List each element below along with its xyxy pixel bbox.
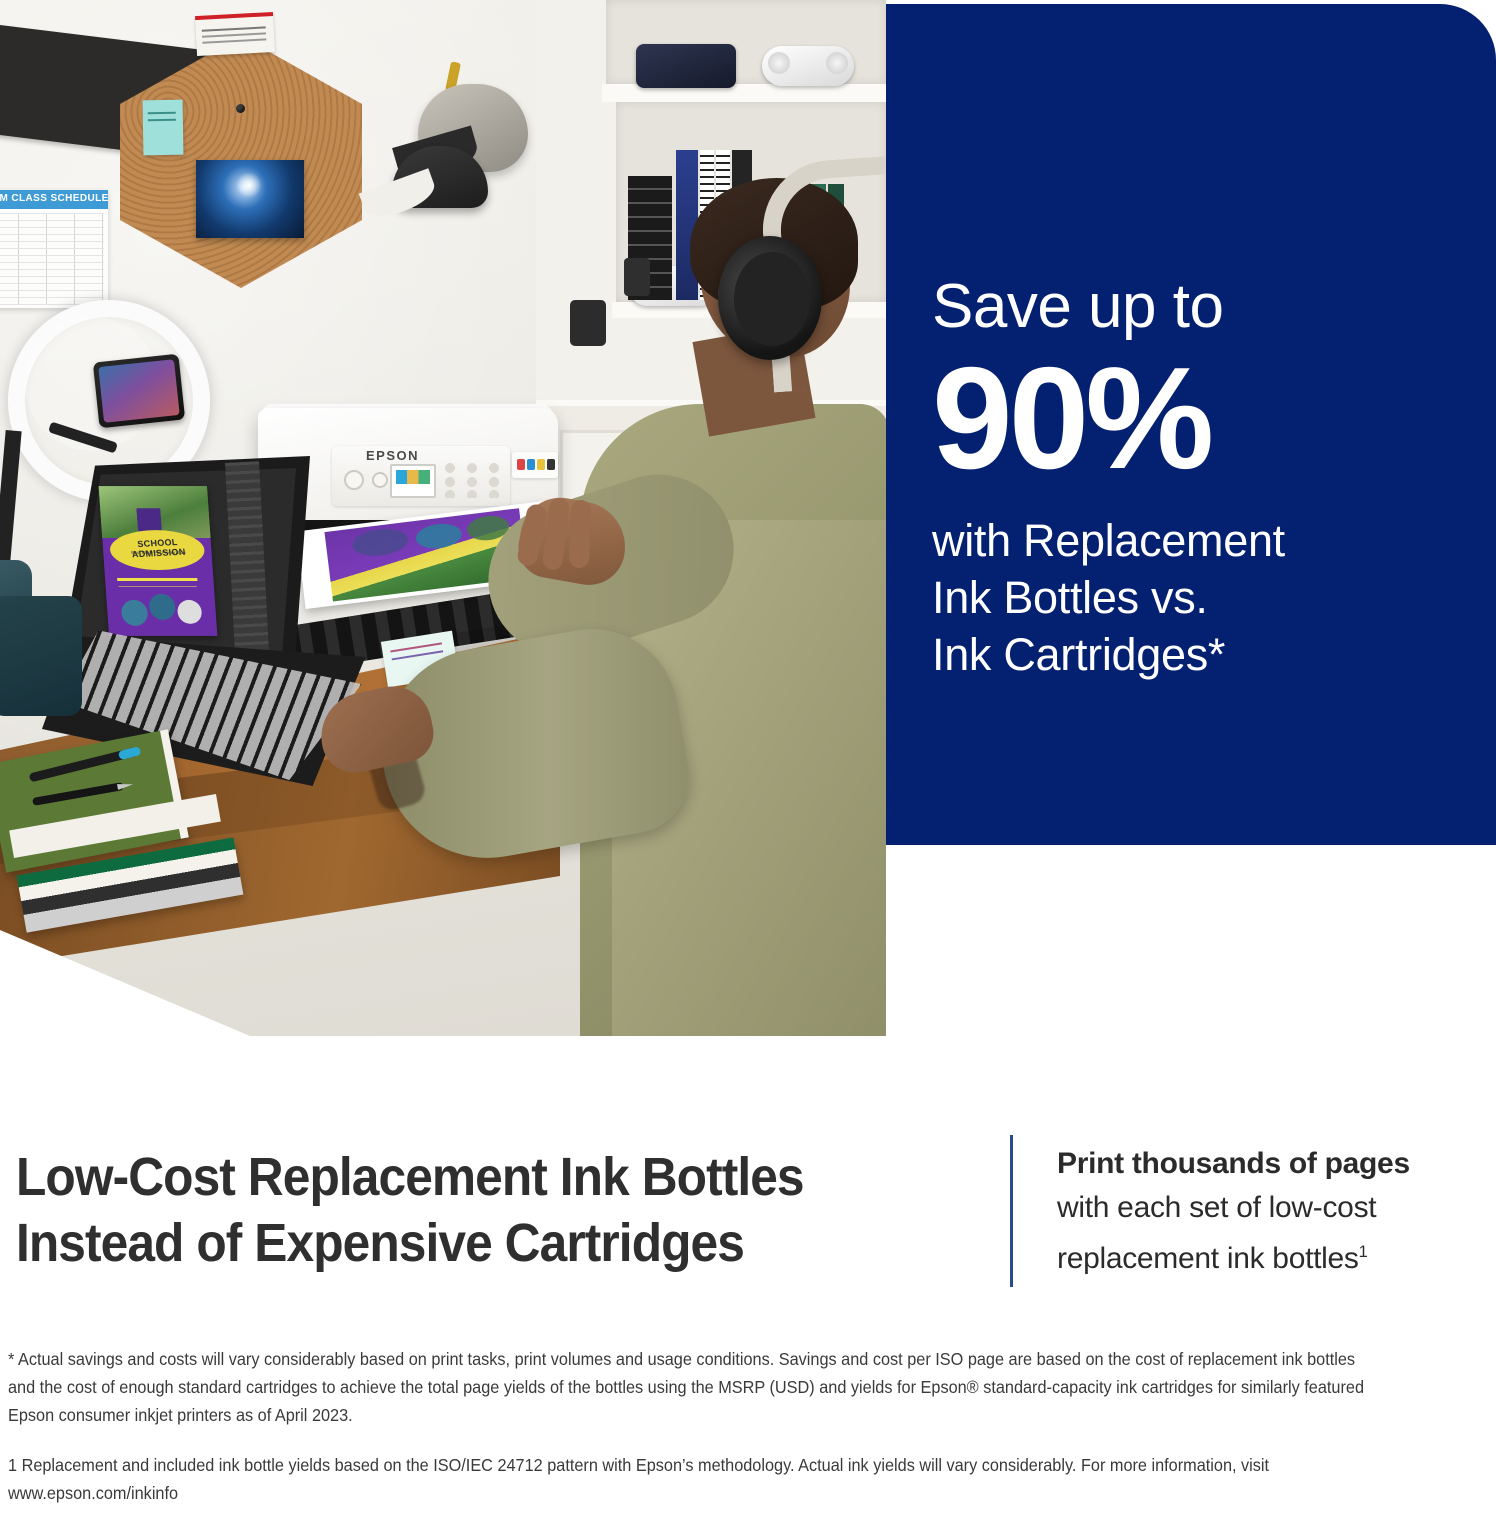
- callout-bold-line: Print thousands of pages: [1057, 1142, 1477, 1186]
- promo-sub-line-3: Ink Cartridges*: [932, 626, 1472, 683]
- bottom-headline-line-2: Instead of Expensive Cartridges: [16, 1210, 899, 1276]
- schedule-title: G - GYM CLASS SCHEDULE: [0, 193, 109, 204]
- vertical-divider: [1010, 1135, 1013, 1287]
- smartphone: [93, 354, 185, 429]
- office-chair: [0, 596, 82, 716]
- callout-line-1: with each set of low-cost: [1057, 1186, 1477, 1230]
- promo-headline-percent: 90%: [932, 344, 1472, 492]
- callout-line-2: replacement ink bottles1: [1057, 1230, 1477, 1281]
- footnote-one: 1 Replacement and included ink bottle yi…: [8, 1451, 1384, 1507]
- promo-sub-line-2: Ink Bottles vs.: [932, 569, 1472, 626]
- game-console: [636, 44, 736, 88]
- pinned-ticket: [195, 12, 275, 56]
- game-controller: [762, 46, 854, 86]
- finger: [569, 500, 591, 569]
- lifestyle-photo: G - GYM CLASS SCHEDULE: [0, 0, 886, 1036]
- gym-class-schedule: G - GYM CLASS SCHEDULE: [0, 190, 108, 308]
- bottom-headline-line-1: Low-Cost Replacement Ink Bottles: [16, 1144, 899, 1210]
- printer-keypad: [442, 462, 504, 498]
- schedule-grid: [0, 213, 104, 305]
- printer-power-button: [344, 470, 364, 490]
- sticky-note: [143, 100, 184, 156]
- push-pin: [236, 104, 245, 113]
- promo-text-block: Save up to 90% with Replacement Ink Bott…: [932, 272, 1472, 683]
- promo-sub-line-1: with Replacement: [932, 512, 1472, 569]
- right-callout: Print thousands of pages with each set o…: [1057, 1142, 1477, 1281]
- poster-subtitle: Best Place For Preparation: [119, 550, 198, 555]
- bottom-content: Low-Cost Replacement Ink Bottles Instead…: [0, 1040, 1496, 1500]
- promo-eyebrow: Save up to: [932, 272, 1472, 342]
- headphone-earcup-inner: [734, 252, 810, 346]
- poster-title: SCHOOL ADMISSION: [116, 536, 200, 560]
- footnote-asterisk: * Actual savings and costs will vary con…: [8, 1345, 1384, 1429]
- promo-subheadline: with Replacement Ink Bottles vs. Ink Car…: [932, 512, 1472, 683]
- hero-section: Save up to 90% with Replacement Ink Bott…: [0, 0, 1496, 1040]
- callout-line-2-text: replacement ink bottles: [1057, 1242, 1359, 1275]
- ink-tank-label: [512, 452, 558, 478]
- printer-brand-label: EPSON: [366, 448, 419, 463]
- bottom-headline: Low-Cost Replacement Ink Bottles Instead…: [16, 1144, 899, 1276]
- poster-design-canvas: SCHOOL ADMISSION Best Place For Preparat…: [99, 486, 218, 636]
- printer-lcd-screen: [390, 464, 436, 498]
- concert-photo: [196, 160, 304, 238]
- callout-body: with each set of low-cost replacement in…: [1057, 1186, 1477, 1281]
- speaker: [624, 258, 650, 296]
- callout-footnote-marker: 1: [1359, 1243, 1368, 1261]
- speaker: [570, 300, 606, 346]
- footnotes: * Actual savings and costs will vary con…: [8, 1345, 1384, 1529]
- printer-home-button: [372, 472, 388, 488]
